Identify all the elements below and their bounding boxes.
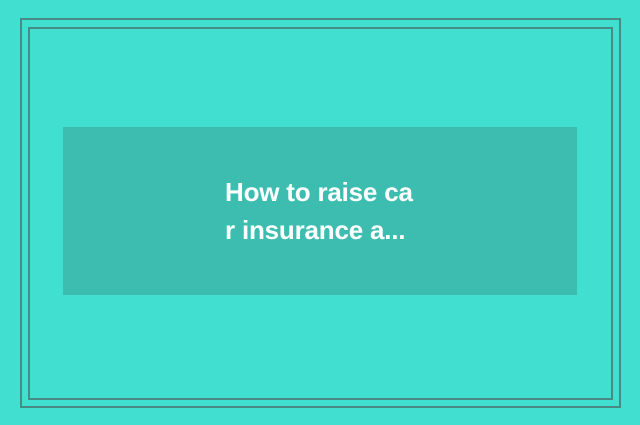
title-plate: How to raise ca r insurance a... xyxy=(63,127,577,295)
thumbnail-canvas: How to raise ca r insurance a... xyxy=(0,0,640,425)
title-line-1: How to raise ca xyxy=(225,173,413,211)
title-line-2: r insurance a... xyxy=(225,211,405,249)
